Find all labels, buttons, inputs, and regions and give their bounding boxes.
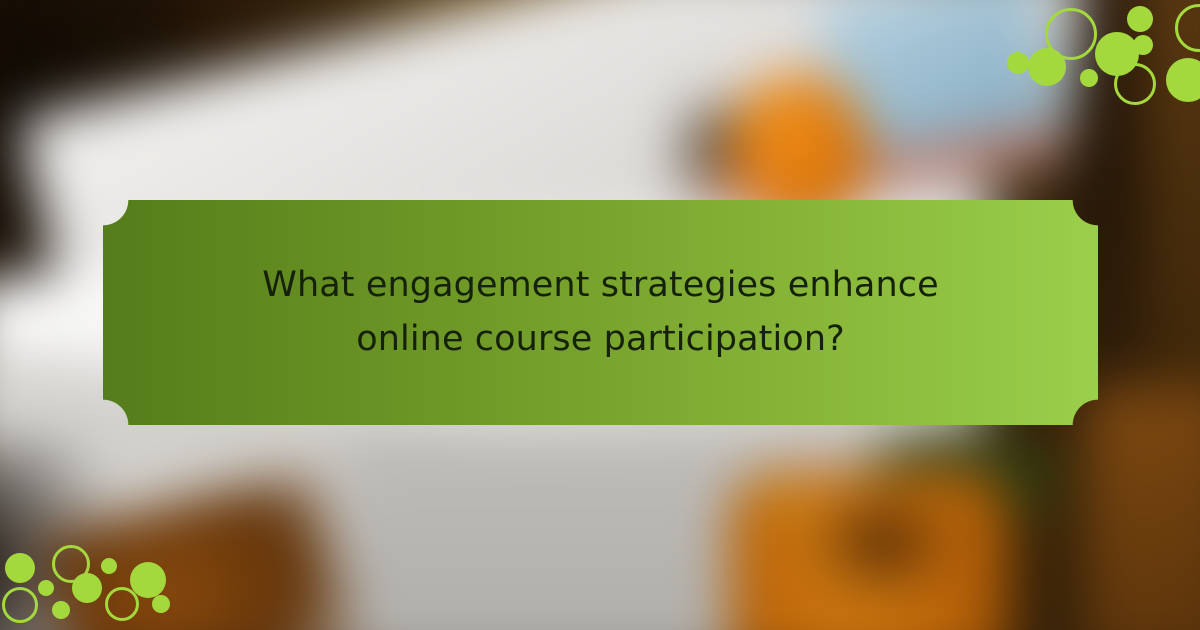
decorative-dot — [1007, 52, 1029, 74]
decorative-dot — [101, 558, 117, 574]
background-pot-shadow — [805, 485, 959, 599]
decorative-dot-ring — [2, 587, 38, 623]
decorative-dot — [1028, 48, 1066, 86]
decorative-dot — [5, 553, 35, 583]
decorative-dot-ring — [1175, 4, 1200, 52]
decorative-dot — [72, 573, 102, 603]
question-card: What engagement strategies enhance onlin… — [103, 200, 1098, 425]
decorative-dot-ring — [1114, 63, 1156, 105]
decorative-dot — [1127, 6, 1153, 32]
decorative-dot — [52, 601, 70, 619]
decorative-dot — [152, 595, 170, 613]
decorative-dot — [1133, 35, 1153, 55]
decorative-dot — [1166, 58, 1200, 102]
decorative-dot — [1080, 69, 1098, 87]
question-text: What engagement strategies enhance onlin… — [206, 259, 996, 365]
background-wood-right — [1086, 386, 1200, 630]
decorative-dots-top-right — [990, 0, 1200, 120]
decorative-dots-bottom-left — [0, 515, 200, 630]
decorative-dot — [38, 580, 54, 596]
decorative-dot-ring — [105, 587, 139, 621]
background-accent — [786, 457, 824, 493]
